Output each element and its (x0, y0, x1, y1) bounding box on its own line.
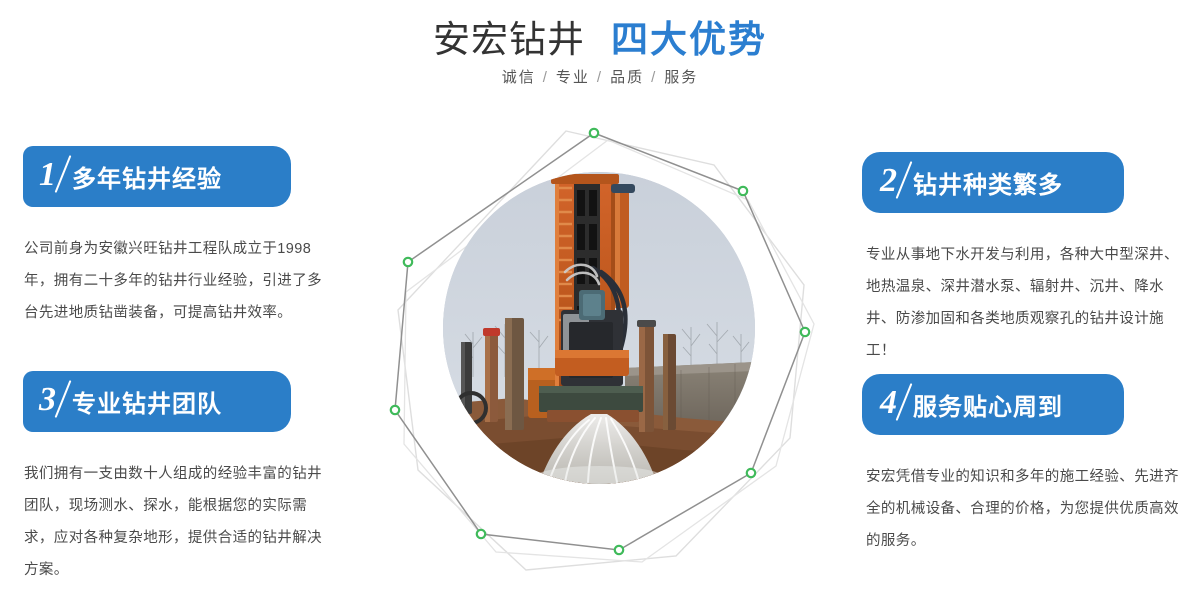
feature-card-4[interactable]: 4 服务贴心周到 安宏凭借专业的知识和多年的施工经验、先进齐全的机械设备、合理的… (860, 374, 1200, 557)
feature-number-4: 4 (880, 386, 903, 420)
subtitle-item-1: 专业 (556, 69, 590, 86)
title-company-name: 安宏钻井 (433, 19, 585, 60)
feature-card-4-body: 安宏凭借专业的知识和多年的施工经验、先进齐全的机械设备、合理的价格，为您提供优质… (866, 461, 1186, 557)
feature-card-3-banner: 3 专业钻井团队 (23, 371, 291, 432)
octagon-node-3 (801, 328, 809, 336)
subtitle-separator: / (597, 69, 603, 86)
feature-card-1-title: 多年钻井经验 (72, 159, 222, 194)
octagon-node-4 (747, 469, 755, 477)
subtitle-item-0: 诚信 (502, 69, 536, 86)
feature-card-4-title: 服务贴心周到 (913, 387, 1063, 422)
feature-card-3[interactable]: 3 专业钻井团队 我们拥有一支由数十人组成的经验丰富的钻井团队，现场测水、探水，… (0, 371, 340, 586)
feature-card-1[interactable]: 1 多年钻井经验 公司前身为安徽兴旺钻井工程队成立于1998年，拥有二十多年的钻… (0, 146, 340, 329)
subtitle-keywords: 诚信/专业/品质/服务 (0, 66, 1200, 87)
title-accent-text: 四大优势 (611, 19, 767, 60)
page-title: 安宏钻井四大优势 (0, 14, 1200, 66)
feature-card-2[interactable]: 2 钻井种类繁多 专业从事地下水开发与利用，各种大中型深井、地热温泉、深井潜水泵… (860, 152, 1200, 367)
page-header: 安宏钻井四大优势 诚信/专业/品质/服务 (0, 0, 1200, 110)
feature-card-2-body: 专业从事地下水开发与利用，各种大中型深井、地热温泉、深井潜水泵、辐射井、沉井、降… (866, 239, 1186, 367)
octagon-node-1 (590, 129, 598, 137)
feature-card-1-body: 公司前身为安徽兴旺钻井工程队成立于1998年，拥有二十多年的钻井行业经验，引进了… (24, 233, 334, 329)
octagon-node-6 (477, 530, 485, 538)
feature-card-3-title: 专业钻井团队 (72, 384, 222, 419)
subtitle-item-2: 品质 (610, 69, 644, 86)
advantages-banner: 安宏钻井四大优势 诚信/专业/品质/服务 1 多年钻井经验 公司前身为安徽兴旺钻… (0, 0, 1200, 600)
octagon-node-2 (739, 187, 747, 195)
octagon-node-7 (391, 406, 399, 414)
subtitle-separator: / (543, 69, 549, 86)
drilling-rig-illustration (443, 172, 755, 484)
octagon-node-8 (404, 258, 412, 266)
feature-card-2-banner: 2 钻井种类繁多 (862, 152, 1124, 213)
feature-number-3: 3 (39, 383, 62, 417)
feature-number-2: 2 (880, 164, 903, 198)
feature-number-1: 1 (39, 158, 62, 192)
feature-card-4-banner: 4 服务贴心周到 (862, 374, 1124, 435)
subtitle-separator: / (651, 69, 657, 86)
feature-card-3-body: 我们拥有一支由数十人组成的经验丰富的钻井团队，现场测水、探水，能根据您的实际需求… (24, 458, 334, 586)
octagon-node-5 (615, 546, 623, 554)
feature-card-1-banner: 1 多年钻井经验 (23, 146, 291, 207)
subtitle-item-3: 服务 (664, 69, 698, 86)
drilling-site-photo (443, 172, 755, 484)
feature-card-2-title: 钻井种类繁多 (913, 165, 1063, 200)
center-graphic (370, 110, 830, 590)
